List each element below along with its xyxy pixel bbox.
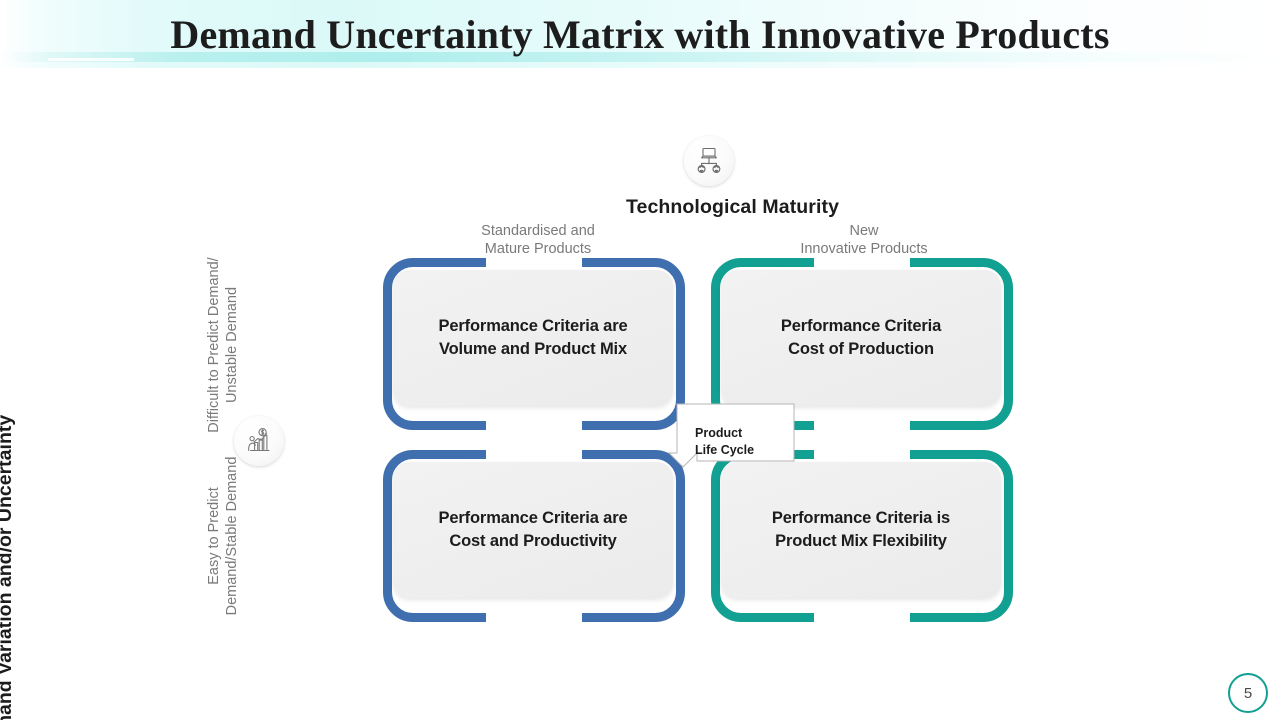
page-number-value: 5 <box>1244 685 1252 702</box>
y-axis-title: Demand Variation and/or Uncertainty <box>0 286 17 720</box>
quadrant-bottom-right-card: Performance Criteria is Product Mix Flex… <box>721 462 1001 598</box>
quadrant-top-right-line2: Cost of Production <box>781 338 941 361</box>
quadrant-bottom-right-line1: Performance Criteria is <box>772 507 950 530</box>
quadrant-top-right-line1: Performance Criteria <box>781 315 941 338</box>
quadrant-bottom-left-line2: Cost and Productivity <box>439 530 628 553</box>
header-accent-stripe-highlight <box>48 58 134 61</box>
page-number-badge: 5 <box>1228 673 1268 713</box>
growth-chart-person-icon <box>242 424 276 458</box>
quadrant-bottom-right[interactable]: Performance Criteria is Product Mix Flex… <box>711 450 1013 622</box>
column-label-innovative: New Innovative Products <box>772 222 956 259</box>
demand-variation-icon <box>234 416 284 466</box>
column-label-innovative-line1: New <box>772 222 956 240</box>
quadrant-top-left-line1: Performance Criteria are <box>439 315 628 338</box>
product-life-cycle-text: Product Life Cycle <box>695 425 787 458</box>
callout-line2: Life Cycle <box>695 442 787 459</box>
column-label-innovative-line2: Innovative Products <box>772 240 956 258</box>
x-axis-title: Technological Maturity <box>560 196 905 219</box>
callout-line1: Product <box>695 425 787 442</box>
quadrant-top-left-line2: Volume and Product Mix <box>439 338 628 361</box>
quadrant-bottom-left-text: Performance Criteria are Cost and Produc… <box>423 507 644 554</box>
row-label-easy-predict-line1: Easy to Predict <box>205 406 223 666</box>
column-label-standardised: Standardised and Mature Products <box>446 222 630 259</box>
product-life-cycle-callout[interactable]: Product Life Cycle <box>655 403 795 475</box>
page-title: Demand Uncertainty Matrix with Innovativ… <box>0 11 1280 58</box>
quadrant-bottom-right-text: Performance Criteria is Product Mix Flex… <box>756 507 966 554</box>
quadrant-top-left-text: Performance Criteria are Volume and Prod… <box>423 315 644 362</box>
technological-maturity-icon <box>684 136 734 186</box>
slide-canvas: Demand Uncertainty Matrix with Innovativ… <box>0 0 1280 720</box>
quadrant-top-left-card: Performance Criteria are Volume and Prod… <box>393 270 673 406</box>
quadrant-bottom-left-line1: Performance Criteria are <box>439 507 628 530</box>
quadrant-top-right-card: Performance Criteria Cost of Production <box>721 270 1001 406</box>
quadrant-bottom-left[interactable]: Performance Criteria are Cost and Produc… <box>383 450 685 622</box>
quadrant-top-right-text: Performance Criteria Cost of Production <box>765 315 957 362</box>
laptop-bulbs-icon <box>692 144 726 178</box>
column-label-standardised-line2: Mature Products <box>446 240 630 258</box>
column-label-standardised-line1: Standardised and <box>446 222 630 240</box>
quadrant-bottom-left-card: Performance Criteria are Cost and Produc… <box>393 462 673 598</box>
quadrant-top-left[interactable]: Performance Criteria are Volume and Prod… <box>383 258 685 430</box>
quadrant-bottom-right-line2: Product Mix Flexibility <box>772 530 950 553</box>
